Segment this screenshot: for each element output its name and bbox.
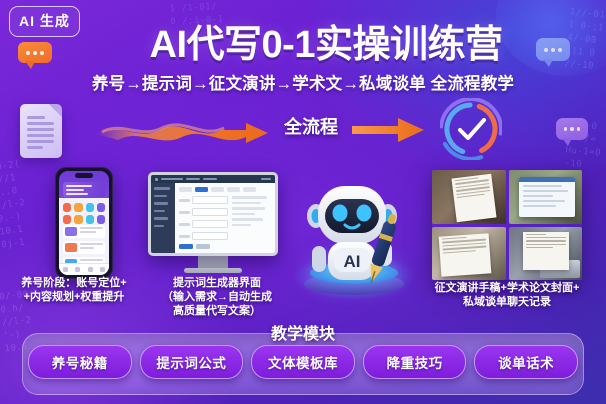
flow-arrow-label: 全流程 bbox=[284, 113, 338, 139]
phone-caption-line-2: +内容规划+权重提升 bbox=[8, 290, 140, 304]
modules-pill-list: 养号秘籍 提示词公式 文体模板库 降重技巧 谈单话术 bbox=[28, 344, 578, 380]
list-item bbox=[63, 241, 105, 254]
module-pill-1[interactable]: 提示词公式 bbox=[140, 345, 244, 379]
phone-tabbar bbox=[59, 263, 109, 275]
page-title: AI代写0-1实操训练营 bbox=[0, 23, 606, 67]
phone-banner bbox=[63, 182, 105, 197]
module-pill-4[interactable]: 谈单话术 bbox=[474, 345, 578, 379]
monitor-titlebar bbox=[151, 175, 275, 183]
document-icon bbox=[20, 104, 62, 158]
monitor-output-panel bbox=[232, 196, 271, 249]
monitor-form bbox=[179, 196, 228, 249]
code-text-left: R0-2( D//1 0..0 //l-2 0.-) 10.1 0j-1 bbox=[0, 158, 32, 252]
ribbon-arrow-icon bbox=[96, 112, 276, 152]
phone-icon-grid bbox=[63, 203, 105, 224]
module-pill-3[interactable]: 降重技巧 bbox=[363, 345, 467, 379]
photo-laptop-checklist bbox=[509, 227, 583, 281]
arrow-right-icon bbox=[352, 117, 424, 143]
monitor-caption: 提示词生成器界面 （输入需求→自动生成 高质量代写文案） bbox=[142, 276, 292, 318]
phone-screen bbox=[59, 171, 109, 275]
speech-bubble-icon-violet bbox=[556, 118, 588, 140]
monitor-caption-line-1: 提示词生成器界面 bbox=[142, 276, 292, 290]
monitor-screen bbox=[148, 172, 278, 256]
monitor-sidebar bbox=[151, 183, 175, 253]
monitor-tabs bbox=[179, 187, 271, 192]
photo-handwritten-manuscript bbox=[432, 170, 506, 224]
monitor-base bbox=[184, 268, 242, 273]
monitor-caption-line-3: 高质量代写文案） bbox=[142, 304, 292, 318]
photo-chat-window bbox=[509, 170, 583, 224]
photo-collage bbox=[432, 170, 582, 280]
progress-check-icon bbox=[440, 98, 502, 160]
phone-caption: 养号阶段：账号定位+ +内容规划+权重提升 bbox=[8, 276, 140, 304]
ai-robot-mascot: AI bbox=[300, 168, 412, 292]
photo-clipboard-document bbox=[432, 227, 506, 281]
phone-notch bbox=[75, 173, 93, 178]
collage-caption: 征文演讲手稿+学术论文封面+ 私域谈单聊天记录 bbox=[414, 281, 600, 309]
module-pill-2[interactable]: 文体模板库 bbox=[251, 345, 355, 379]
collage-caption-line-2: 私域谈单聊天记录 bbox=[414, 295, 600, 309]
svg-text:AI: AI bbox=[344, 252, 361, 271]
list-item bbox=[63, 225, 105, 238]
modules-title: 教学模块 bbox=[0, 320, 606, 344]
monitor-mockup bbox=[148, 172, 278, 276]
monitor-content bbox=[175, 183, 275, 253]
phone-caption-line-1: 养号阶段：账号定位+ bbox=[8, 276, 140, 290]
monitor-caption-line-2: （输入需求→自动生成 bbox=[142, 290, 292, 304]
page-subtitle: 养号→提示词→征文演讲→学术文→私域谈单 全流程教学 bbox=[0, 70, 606, 94]
module-pill-0[interactable]: 养号秘籍 bbox=[28, 345, 132, 379]
collage-caption-line-1: 征文演讲手稿+学术论文封面+ bbox=[414, 281, 600, 295]
promo-poster: R0-2( D//1 0..0 //l-2 0.-) 10.1 0j-1 0/-… bbox=[0, 0, 606, 404]
phone-mockup bbox=[55, 167, 113, 279]
monitor-stand bbox=[198, 256, 228, 268]
